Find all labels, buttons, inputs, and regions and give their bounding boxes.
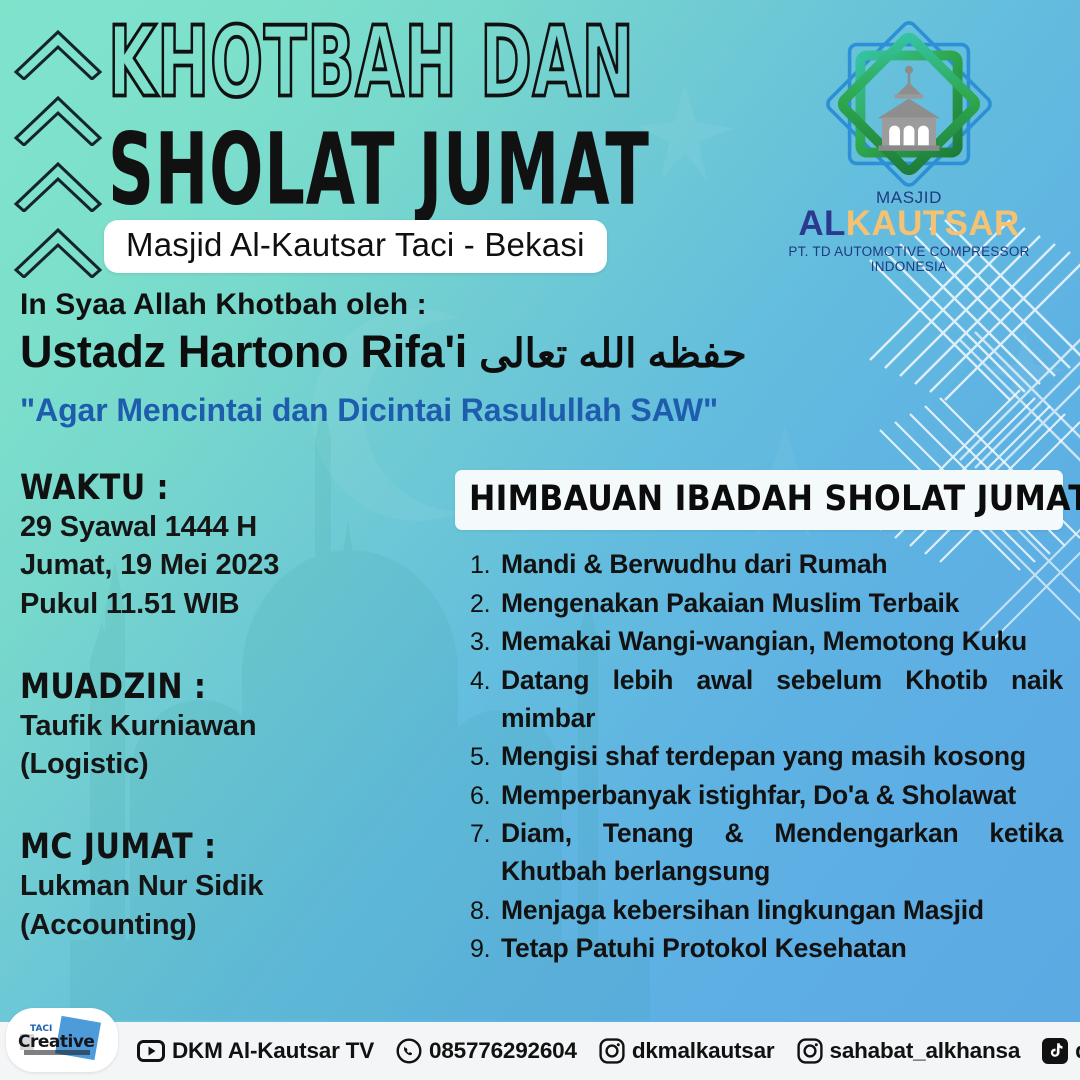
- mc-section: MC JUMAT : Lukman Nur Sidik (Accounting): [20, 827, 440, 944]
- logo-company-tagline: PT. TD AUTOMOTIVE COMPRESSOR INDONESIA: [784, 244, 1034, 274]
- mc-heading: MC JUMAT :: [20, 827, 381, 867]
- poster-canvas: KHOTBAH DAN SHOLAT JUMAT Masjid Al-Kauts…: [0, 0, 1080, 1080]
- khotib-name-arabic: حفظه الله تعالى: [479, 332, 747, 376]
- list-item: Memperbanyak istighfar, Do'a & Sholawat: [497, 777, 1063, 815]
- list-item: Menjaga kebersihan lingkungan Masjid: [497, 892, 1063, 930]
- chevron-up-icon: [8, 220, 108, 278]
- waktu-heading: WAKTU :: [20, 468, 381, 508]
- social-link-instagram-dkm[interactable]: dkmalkautsar: [588, 1038, 786, 1064]
- schedule-column: WAKTU : 29 Syawal 1444 H Jumat, 19 Mei 2…: [20, 468, 440, 968]
- muadzin-heading: MUADZIN :: [20, 667, 381, 707]
- list-item: Tetap Patuhi Protokol Kesehatan: [497, 930, 1063, 968]
- list-item: Memakai Wangi-wangian, Memotong Kuku: [497, 623, 1063, 661]
- logo-name-suffix: KAUTSAR: [846, 204, 1020, 243]
- muadzin-name: Taufik Kurniawan: [20, 707, 440, 745]
- guidance-banner-text: HIMBAUAN IBADAH SHOLAT JUMAT :: [469, 479, 991, 519]
- list-item: Mengenakan Pakaian Muslim Terbaik: [497, 585, 1063, 623]
- footer-bar: DKM Al-Kautsar TV 085776292604 dkmalkaut…: [0, 1022, 1080, 1080]
- chevron-up-icon: [8, 88, 108, 146]
- mosque-star-logo-icon: [819, 14, 999, 194]
- waktu-line: 29 Syawal 1444 H: [20, 508, 440, 546]
- social-links-row: DKM Al-Kautsar TV 085776292604 dkmalkaut…: [126, 1038, 1078, 1064]
- social-handle: 085776292604: [429, 1038, 577, 1064]
- mc-department: (Accounting): [20, 906, 440, 944]
- khotib-name: Ustadz Hartono Rifa'i: [20, 326, 467, 377]
- svg-text:Creative: Creative: [18, 1032, 94, 1052]
- masjid-logo: MASJID ALKAUTSAR PT. TD AUTOMOTIVE COMPR…: [784, 14, 1034, 274]
- waktu-line: Pukul 11.51 WIB: [20, 585, 440, 623]
- chevron-decoration-group: [8, 22, 116, 286]
- star-watermark-icon: [980, 330, 1070, 420]
- youtube-icon: [137, 1040, 165, 1062]
- khotib-intro: In Syaa Allah Khotbah oleh :: [20, 288, 920, 322]
- title-line-1: KHOTBAH DAN: [108, 16, 534, 109]
- list-item: Mengisi shaf terdepan yang masih kosong: [497, 738, 1063, 776]
- muadzin-section: MUADZIN : Taufik Kurniawan (Logistic): [20, 667, 440, 784]
- mc-name: Lukman Nur Sidik: [20, 867, 440, 905]
- khotib-section: In Syaa Allah Khotbah oleh : Ustadz Hart…: [20, 288, 920, 429]
- guidance-banner: HIMBAUAN IBADAH SHOLAT JUMAT :: [455, 470, 1063, 530]
- social-handle: dkmalkautsar: [632, 1038, 775, 1064]
- instagram-icon: [797, 1038, 823, 1064]
- muadzin-department: (Logistic): [20, 745, 440, 783]
- social-link-youtube[interactable]: DKM Al-Kautsar TV: [126, 1038, 385, 1064]
- social-link-instagram-sahabat[interactable]: sahabat_alkhansa: [786, 1038, 1032, 1064]
- whatsapp-icon: [396, 1038, 422, 1064]
- list-item: Datang lebih awal sebelum Khotib naik mi…: [497, 662, 1063, 737]
- creative-studio-logo: TACI Creative: [6, 1008, 118, 1072]
- social-handle: DKM Al-Kautsar TV: [172, 1038, 374, 1064]
- khotib-name-row: Ustadz Hartono Rifa'i حفظه الله تعالى: [20, 326, 920, 378]
- guidance-column: HIMBAUAN IBADAH SHOLAT JUMAT : Mandi & B…: [455, 470, 1063, 969]
- venue-badge: Masjid Al-Kautsar Taci - Bekasi: [104, 220, 607, 273]
- tiktok-icon: [1042, 1038, 1068, 1064]
- chevron-up-icon: [8, 22, 108, 80]
- poster-title: KHOTBAH DAN SHOLAT JUMAT: [108, 16, 628, 196]
- list-item: Mandi & Berwudhu dari Rumah: [497, 546, 1063, 584]
- logo-name-prefix: AL: [798, 204, 845, 243]
- khotbah-theme: "Agar Mencintai dan Dicintai Rasulullah …: [20, 392, 920, 429]
- social-handle: dkm_alkautsar: [1075, 1038, 1080, 1064]
- title-line-2: SHOLAT JUMAT: [108, 123, 545, 218]
- social-link-tiktok[interactable]: dkm_alkautsar: [1031, 1038, 1080, 1064]
- list-item: Diam, Tenang & Mendengarkan ketika Khutb…: [497, 815, 1063, 890]
- chevron-up-icon: [8, 154, 108, 212]
- taci-creative-logo-icon: TACI Creative: [10, 1014, 114, 1066]
- guidance-list: Mandi & Berwudhu dari Rumah Mengenakan P…: [455, 546, 1063, 968]
- instagram-icon: [599, 1038, 625, 1064]
- logo-name: ALKAUTSAR: [784, 206, 1034, 241]
- social-handle: sahabat_alkhansa: [830, 1038, 1021, 1064]
- social-link-whatsapp[interactable]: 085776292604: [385, 1038, 588, 1064]
- waktu-line: Jumat, 19 Mei 2023: [20, 546, 440, 584]
- waktu-section: WAKTU : 29 Syawal 1444 H Jumat, 19 Mei 2…: [20, 468, 440, 623]
